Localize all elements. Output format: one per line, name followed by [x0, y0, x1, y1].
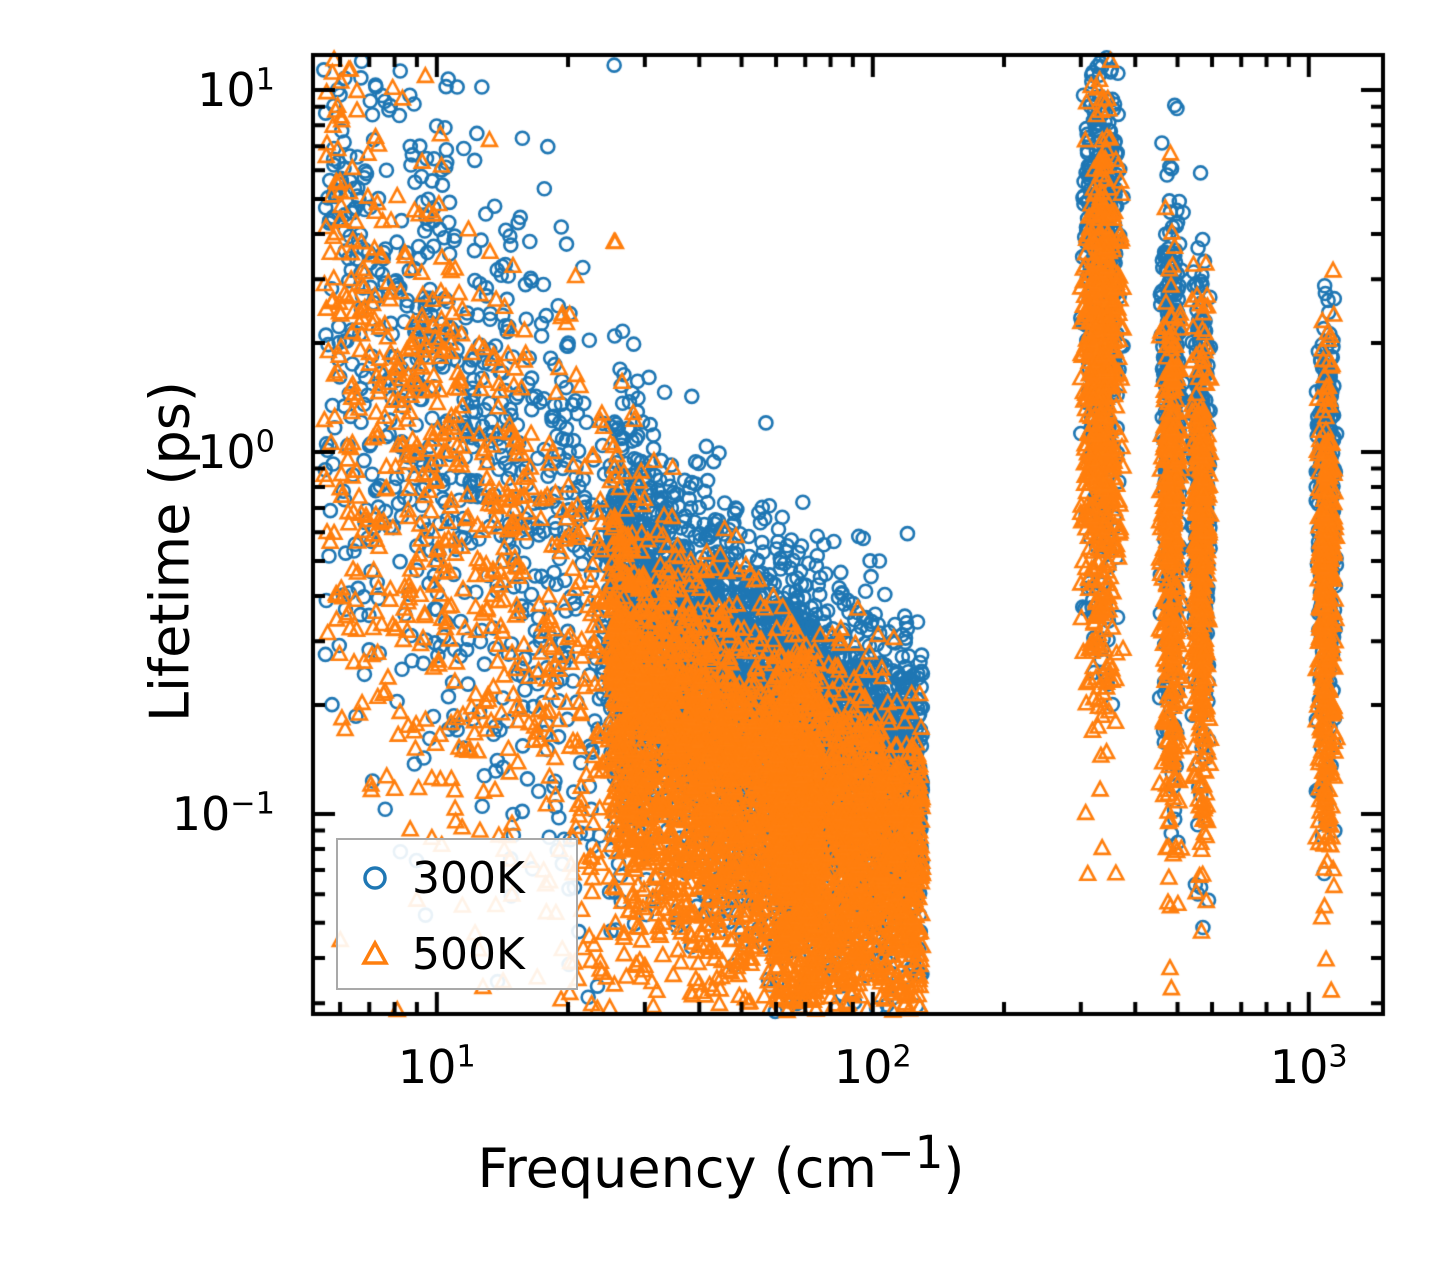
ytick-label-10e1: 101 — [60, 63, 275, 117]
scatter-plot-figure: 101 100 10−1 101 102 103 Frequency (cm−1… — [0, 0, 1442, 1265]
xtick-label-10e2: 102 — [834, 1040, 912, 1094]
legend-entry-500k: 500K — [338, 916, 580, 992]
legend-label-500k: 500K — [412, 929, 525, 980]
xtick-label-10e3: 103 — [1270, 1040, 1348, 1094]
y-axis-label: Lifetime (ps) — [139, 112, 202, 992]
legend-label-300k: 300K — [412, 853, 525, 904]
x-axis-label: Frequency (cm−1) — [0, 1126, 1442, 1200]
legend-marker-triangle-icon — [338, 937, 412, 971]
legend-entry-300k: 300K — [338, 840, 580, 916]
legend-marker-circle-icon — [338, 861, 412, 895]
lifetime-vs-frequency-scatter-canvas — [0, 0, 1442, 1265]
legend: 300K 500K — [336, 838, 578, 990]
xtick-label-10e1: 101 — [398, 1040, 476, 1094]
